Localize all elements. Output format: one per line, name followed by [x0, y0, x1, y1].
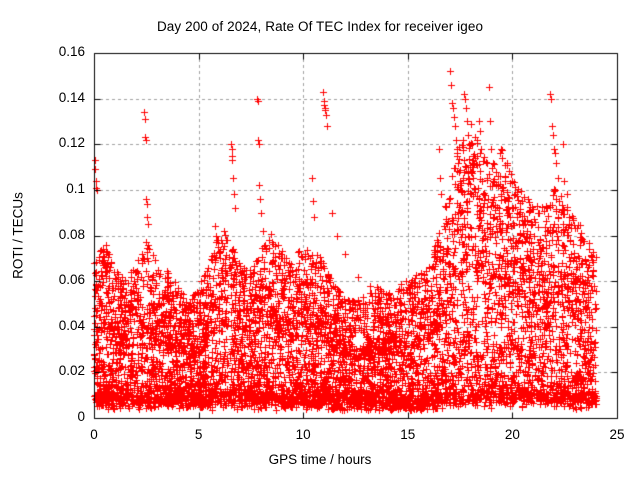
y-tick-label: 0.16: [59, 44, 85, 59]
x-axis-label: GPS time / hours: [0, 452, 640, 467]
x-tick-label: 10: [273, 427, 333, 442]
x-tick-label: 20: [482, 427, 542, 442]
x-tick-label: 5: [169, 427, 229, 442]
y-tick-label: 0: [77, 409, 85, 424]
y-tick-label: 0.12: [59, 135, 85, 150]
y-tick-label: 0.1: [66, 181, 85, 196]
x-tick-label: 15: [378, 427, 438, 442]
y-tick-label: 0.04: [59, 318, 85, 333]
y-axis-label: ROTI / TECUs: [11, 146, 26, 326]
plot-area: [0, 0, 640, 480]
y-tick-label: 0.02: [59, 363, 85, 378]
y-tick-label: 0.14: [59, 90, 85, 105]
roti-scatter-figure: Day 200 of 2024, Rate Of TEC Index for r…: [0, 0, 640, 480]
x-tick-label: 0: [64, 427, 124, 442]
y-tick-label: 0.06: [59, 272, 85, 287]
x-tick-label: 25: [587, 427, 640, 442]
y-tick-label: 0.08: [59, 227, 85, 242]
